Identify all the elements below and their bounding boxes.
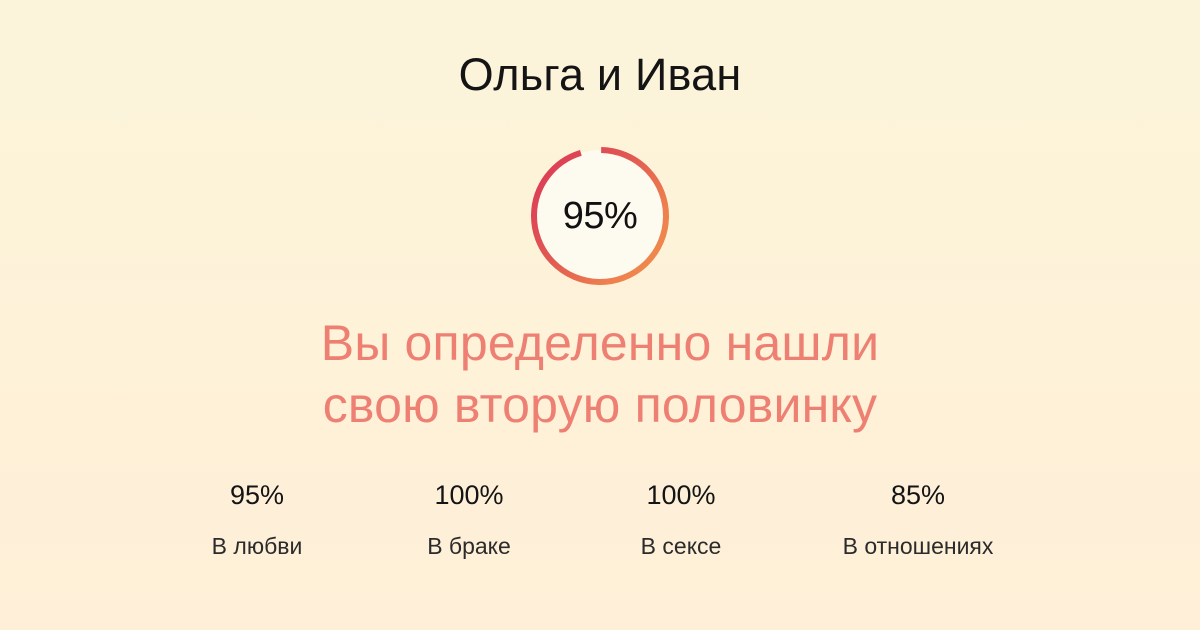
page-title: Ольга и Иван xyxy=(0,52,1200,97)
compatibility-gauge: 95% xyxy=(530,146,670,286)
stat-label: В браке xyxy=(379,532,559,560)
stat-value: 100% xyxy=(379,478,559,512)
stat-item: 95% В любви xyxy=(151,478,363,560)
stat-value: 100% xyxy=(591,478,771,512)
result-headline-line-2: свою вторую половинку xyxy=(110,374,1090,436)
stat-item: 100% В сексе xyxy=(575,478,787,560)
stat-item: 100% В браке xyxy=(363,478,575,560)
stat-item: 85% В отношениях xyxy=(787,478,1049,560)
stat-value: 95% xyxy=(167,478,347,512)
compatibility-result-card: Ольга и Иван 95% Вы определенно нашли св… xyxy=(0,0,1200,630)
stat-value: 85% xyxy=(803,478,1033,512)
stat-label: В любви xyxy=(167,532,347,560)
gauge-value: 95% xyxy=(563,197,638,235)
stat-label: В сексе xyxy=(591,532,771,560)
gauge-center: 95% xyxy=(530,146,670,286)
result-headline: Вы определенно нашли свою вторую половин… xyxy=(0,312,1200,436)
stats-row: 95% В любви 100% В браке 100% В сексе 85… xyxy=(0,478,1200,560)
stat-label: В отношениях xyxy=(803,532,1033,560)
result-headline-line-1: Вы определенно нашли xyxy=(110,312,1090,374)
